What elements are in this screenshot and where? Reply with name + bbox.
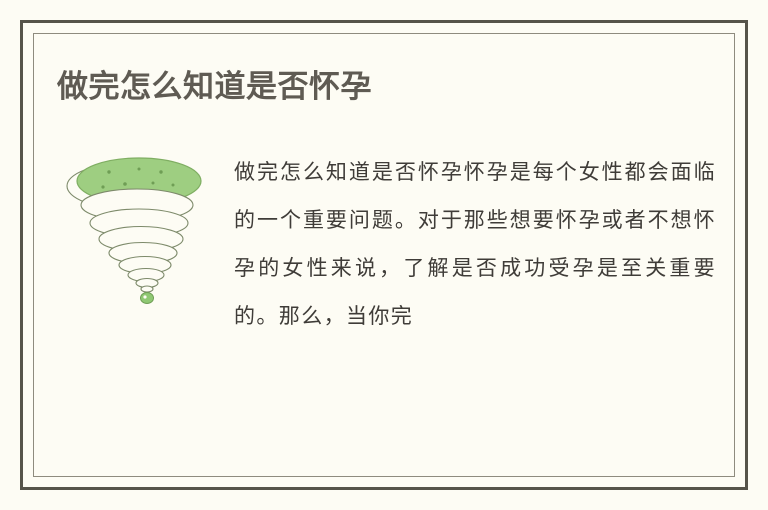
funnel-tip-highlight (143, 295, 146, 298)
funnel-rings (81, 189, 193, 292)
tornado-icon (57, 150, 217, 310)
article-content: 做完怎么知道是否怀孕怀孕是每个女性都会面临的一个重要问题。对于那些想要怀孕或者不… (57, 148, 716, 340)
funnel-tip-dot (141, 293, 154, 304)
article-body: 做完怎么知道是否怀孕怀孕是每个女性都会面临的一个重要问题。对于那些想要怀孕或者不… (217, 148, 716, 340)
page-title: 做完怎么知道是否怀孕 (57, 66, 677, 108)
article-page: 做完怎么知道是否怀孕 (0, 0, 768, 510)
